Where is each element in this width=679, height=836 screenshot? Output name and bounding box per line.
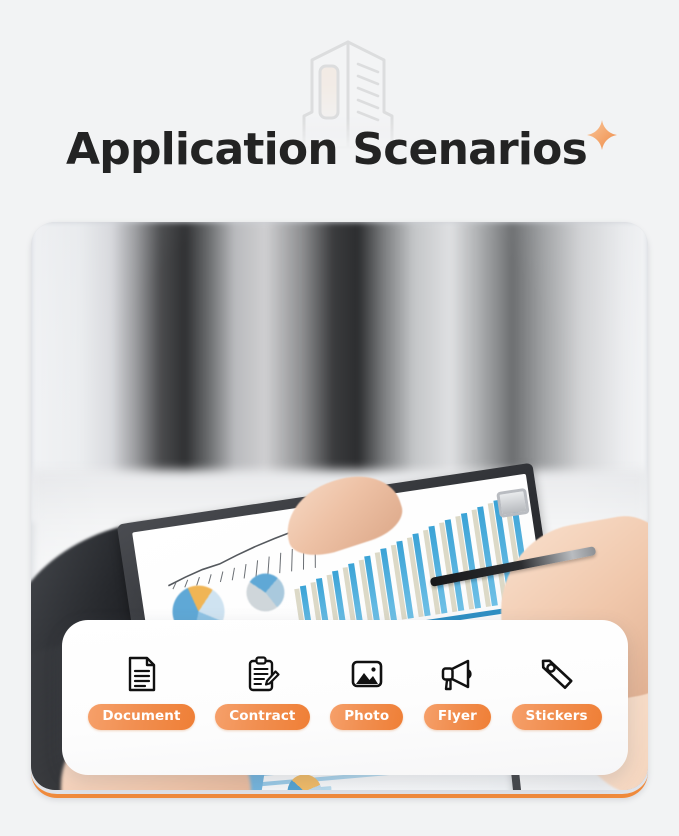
feature-label-contract[interactable]: Contract xyxy=(215,704,309,731)
feature-card: Document xyxy=(62,620,628,775)
feature-label-document[interactable]: Document xyxy=(88,704,194,731)
megaphone-icon xyxy=(436,653,478,695)
page-header: Application Scenarios xyxy=(0,0,679,205)
page-title: Application Scenarios xyxy=(66,124,587,175)
feature-item-stickers[interactable]: Stickers xyxy=(512,653,602,731)
feature-item-document[interactable]: Document xyxy=(88,653,194,731)
feature-label-stickers[interactable]: Stickers xyxy=(512,704,602,731)
sparkle-icon xyxy=(585,118,619,152)
image-icon xyxy=(346,653,388,695)
clipboard-pen-icon xyxy=(241,653,283,695)
feature-list: Document xyxy=(62,620,628,775)
feature-item-flyer[interactable]: Flyer xyxy=(424,653,491,731)
feature-label-flyer[interactable]: Flyer xyxy=(424,704,491,731)
tag-icon xyxy=(536,653,578,695)
feature-item-contract[interactable]: Contract xyxy=(215,653,309,731)
document-icon xyxy=(120,653,162,695)
page-title-row: Application Scenarios xyxy=(0,128,679,172)
application-scenarios-page: Application Scenarios xyxy=(0,0,679,836)
feature-label-photo[interactable]: Photo xyxy=(330,704,403,731)
feature-item-photo[interactable]: Photo xyxy=(330,653,403,731)
